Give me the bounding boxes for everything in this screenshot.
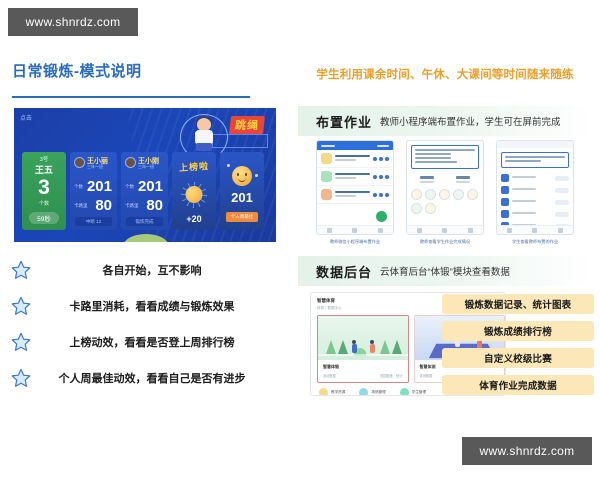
section-description: 云体育后台“体锻”模块查看数据 — [380, 264, 510, 278]
avatar — [453, 189, 464, 200]
student-card-list: 3号 王五 3 个数 59秒 王小丽 三年一班 个数 201 卡路里 80 中断… — [22, 152, 264, 230]
task-icon — [501, 198, 509, 206]
list-item: 上榜动效，看看是否登上周排行榜 — [6, 324, 290, 360]
task-icon — [501, 186, 509, 194]
card-meta-right: 校园锻炼｜统计 — [380, 373, 402, 378]
phone-nav-bar — [497, 225, 573, 234]
summary-card — [411, 145, 479, 169]
calorie-label: 卡路里 — [74, 203, 88, 209]
section-header-assignments: 布置作业 教师小程序端布置作业，学生可在屏前完成 — [298, 106, 592, 136]
avatar — [321, 153, 332, 164]
calorie-label: 卡路里 — [125, 203, 139, 209]
list-item-label: 卡路里消耗，看看成绩与锻炼效果 — [36, 298, 290, 314]
list-item-label: 个人周最佳动效，看看自己是否有进步 — [36, 370, 290, 386]
list-item: 个人周最佳动效，看看自己是否有进步 — [6, 360, 290, 396]
title-divider — [12, 96, 250, 98]
module-icon — [400, 388, 409, 396]
student-card: 王小刚 三年一班 个数 201 卡路里 80 锻炼完成 — [121, 152, 168, 230]
list-item-label: 上榜动效，看看是否登上周排行榜 — [36, 334, 290, 350]
phone-mockup-student-tasks — [496, 140, 574, 235]
smiley-face-icon — [232, 166, 252, 186]
stats-row — [407, 173, 483, 186]
row-text — [335, 173, 370, 181]
feature-box: 锻炼成绩排行榜 — [442, 321, 594, 341]
list-item: 各自开始，互不影响 — [6, 252, 290, 288]
add-button — [376, 211, 387, 222]
phone-nav-bar — [407, 225, 483, 234]
student-number: 3号 — [22, 155, 66, 163]
phone-mockup-completion-status — [406, 140, 484, 235]
count-value: 201 — [138, 179, 163, 194]
footer-item: 学生管理 — [400, 388, 426, 396]
section-title: 布置作业 — [316, 112, 372, 131]
feature-box: 锻炼数据记录、统计图表 — [442, 294, 594, 314]
action-dots — [373, 175, 389, 179]
list-item — [317, 150, 393, 168]
line — [335, 191, 370, 193]
student-class: 三年一班 — [138, 164, 154, 170]
rank-label: 上榜啦 — [172, 158, 217, 174]
line — [415, 149, 475, 151]
card-meta: 智慧体锻 运动数据 校园锻炼｜统计 — [318, 360, 408, 382]
panel-topbar-label: 点击 — [20, 113, 32, 122]
illustration-outdoor — [318, 316, 408, 360]
line — [335, 177, 356, 179]
left-column: 日常锻炼-模式说明 点击 跳绳 3号 王五 3 — [0, 50, 290, 450]
orange-heading: 学生利用课余时间、午休、大课间等时间随来随练 — [290, 66, 600, 82]
mouth — [238, 178, 246, 182]
line — [415, 161, 457, 163]
right-column: 学生利用课余时间、午休、大课间等时间随来随练 布置作业 教师小程序端布置作业，学… — [290, 50, 600, 450]
avatar — [321, 189, 332, 200]
card-meta-row: 运动数据 校园锻炼｜统计 — [323, 373, 403, 378]
line — [505, 160, 541, 162]
tree-icon — [380, 340, 390, 354]
eye — [245, 173, 247, 176]
line — [415, 157, 451, 159]
dashboard-card-exercise: 智慧体锻 运动数据 校园锻炼｜统计 — [317, 315, 409, 383]
avatar — [425, 189, 436, 200]
feature-box: 自定义校级比赛 — [442, 348, 594, 368]
list-item-label: 各自开始，互不影响 — [36, 262, 290, 278]
feature-box: 体育作业完成数据 — [442, 375, 594, 395]
star-icon — [6, 367, 36, 389]
line — [335, 159, 356, 161]
footer-item-label: 场馆管理 — [371, 390, 385, 395]
phone-nav-bar — [317, 225, 393, 234]
status-left — [321, 145, 335, 147]
card-meta-left: 体测数据 — [420, 373, 433, 378]
task-icon — [501, 174, 509, 182]
status-pill — [555, 176, 569, 181]
figure-body — [370, 344, 375, 353]
phone-caption: 学生查看教师布置的作业 — [496, 239, 574, 244]
line — [335, 195, 356, 197]
status-right — [377, 145, 389, 147]
avatar — [74, 157, 85, 168]
sparkle-icon — [227, 164, 230, 167]
card-meta-left: 运动数据 — [323, 373, 336, 378]
phone-mockup-group — [316, 140, 574, 235]
student-avatar-grid — [407, 186, 483, 217]
ground-line — [318, 354, 408, 356]
section-title: 数据后台 — [316, 262, 372, 281]
card-name: 智慧体锻 — [323, 364, 403, 370]
task-header-card — [501, 152, 569, 168]
student-name: 王五 — [22, 163, 66, 176]
sparkle-icon — [255, 174, 258, 177]
list-item — [497, 172, 573, 184]
figure-shorts — [196, 143, 212, 151]
status-badge: 中断 12 — [75, 217, 112, 226]
list-item: 卡路里消耗，看看成绩与锻炼效果 — [6, 288, 290, 324]
action-dots — [373, 157, 389, 161]
footer-item-label: 教学资源 — [331, 390, 345, 395]
status-pill — [555, 200, 569, 205]
personal-best-tag: 个人周最佳 — [226, 212, 258, 222]
person-figure — [370, 340, 375, 353]
tree-icon — [392, 340, 402, 354]
student-timer: 59秒 — [29, 212, 59, 224]
module-icon — [319, 388, 328, 396]
student-class: 三年一班 — [87, 164, 103, 170]
avatar — [439, 189, 450, 200]
calorie-value: 80 — [146, 198, 163, 213]
row-text — [335, 155, 370, 163]
phone-caption: 教师微信小程序端布置作业 — [316, 239, 394, 244]
figure-body — [352, 344, 357, 353]
student-card-active: 3号 王五 3 个数 59秒 — [22, 152, 66, 230]
student-count: 3 — [22, 177, 66, 198]
avatar — [411, 203, 422, 214]
eye — [237, 173, 239, 176]
star-icon — [6, 259, 36, 281]
tree-icon — [338, 340, 348, 354]
phone-status-bar — [497, 141, 573, 148]
footer-item: 场馆管理 — [359, 388, 385, 396]
page-title: 日常锻炼-模式说明 — [12, 60, 142, 81]
jumprope-badge: 跳绳 — [229, 116, 265, 134]
personal-best-value: 201 — [220, 190, 264, 205]
module-icon — [359, 388, 368, 396]
rank-animation-card: 上榜啦 +20 — [172, 152, 216, 230]
stat-item — [456, 176, 470, 183]
student-count-unit: 个数 — [22, 200, 66, 207]
avatar — [467, 189, 478, 200]
count-label: 个数 — [74, 184, 83, 190]
feature-box-list: 锻炼数据记录、统计图表 锻炼成绩排行榜 自定义校级比赛 体育作业完成数据 — [442, 294, 594, 402]
avatar — [411, 189, 422, 200]
phone-status-bar — [317, 141, 393, 150]
sun-icon — [186, 186, 203, 203]
list-item — [317, 168, 393, 186]
avatar — [321, 171, 332, 182]
list-item — [317, 186, 393, 204]
tree-icon — [326, 340, 336, 354]
star-icon — [6, 295, 36, 317]
footer-item: 教学资源 — [319, 388, 345, 396]
line — [335, 155, 370, 157]
status-pill — [555, 188, 569, 193]
footer-item-label: 学生管理 — [412, 390, 426, 395]
count-label: 个数 — [125, 184, 134, 190]
row-text — [335, 191, 370, 199]
phone-caption-group: 教师微信小程序端布置作业 教师查看学生作业完成情况 学生查看教师布置的作业 — [316, 239, 574, 244]
watermark-top: www.shnrdz.com — [8, 8, 138, 36]
slide-page: www.shnrdz.com www.shnrdz.com 日常锻炼-模式说明 … — [0, 0, 600, 480]
count-value: 201 — [87, 179, 112, 194]
avatar — [125, 157, 136, 168]
calorie-value: 80 — [95, 198, 112, 213]
list-item — [497, 208, 573, 220]
student-card: 王小丽 三年一班 个数 201 卡路里 80 中断 12 — [70, 152, 117, 230]
phone-mockup-teacher-assign — [316, 140, 394, 235]
status-badge: 锻炼完成 — [126, 217, 163, 226]
line — [505, 156, 565, 158]
section-description: 教师小程序端布置作业，学生可在屏前完成 — [380, 114, 561, 128]
rank-delta: +20 — [172, 214, 216, 224]
exercise-dashboard-panel: 点击 跳绳 3号 王五 3 个数 59秒 — [14, 108, 276, 242]
phone-caption: 教师查看学生作业完成情况 — [406, 239, 484, 244]
feature-bullet-list: 各自开始，互不影响 卡路里消耗，看看成绩与锻炼效果 上榜动效，看看是否登上周排行… — [6, 252, 290, 396]
list-item — [497, 184, 573, 196]
avatar — [425, 203, 436, 214]
task-icon — [501, 210, 509, 218]
action-dots — [373, 193, 389, 197]
personal-best-card: 201 个人周最佳 — [220, 152, 264, 230]
line — [335, 173, 370, 175]
section-header-data-backend: 数据后台 云体育后台“体锻”模块查看数据 — [298, 256, 592, 286]
star-icon — [6, 331, 36, 353]
line — [415, 153, 451, 155]
person-figure — [352, 340, 357, 353]
list-item — [497, 196, 573, 208]
stat-item — [420, 176, 434, 183]
status-pill — [555, 212, 569, 217]
